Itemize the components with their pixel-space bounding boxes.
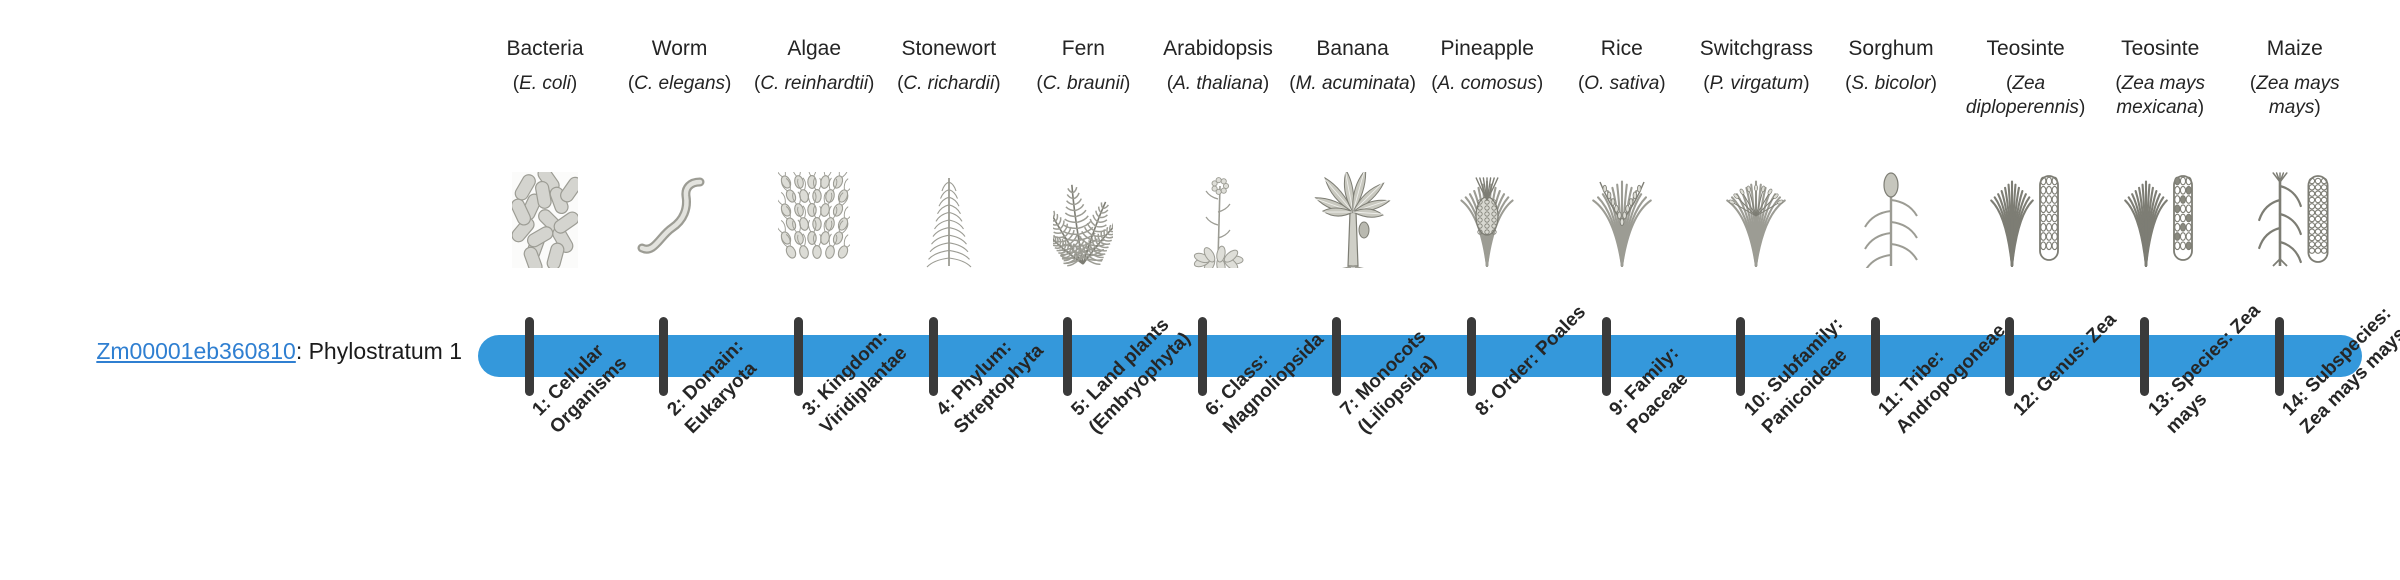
- switchgrass-illustration: [1689, 168, 1823, 268]
- species-scientific-name: (C. richardii): [876, 72, 1022, 96]
- timeline-tick-12: [2005, 317, 2014, 396]
- species-common-name: Pineapple: [1414, 36, 1560, 62]
- species-scientific-name: (M. acuminata): [1280, 72, 1426, 96]
- species-header: Arabidopsis(A. thaliana): [1145, 36, 1291, 96]
- timeline-tick-2: [659, 317, 668, 396]
- species-common-name: Stonewort: [876, 36, 1022, 62]
- species-common-name: Banana: [1280, 36, 1426, 62]
- timeline-tick-8: [1467, 317, 1476, 396]
- timeline-tick-3: [794, 317, 803, 396]
- species-common-name: Teosinte: [2087, 36, 2233, 62]
- species-column-pineapple-8: Pineapple(A. comosus): [1420, 0, 1554, 580]
- timeline-tick-9: [1602, 317, 1611, 396]
- species-common-name: Worm: [607, 36, 753, 62]
- species-scientific-name: (A. comosus): [1414, 72, 1560, 96]
- timeline-tick-13: [2140, 317, 2149, 396]
- species-header: Bacteria(E. coli): [472, 36, 618, 96]
- species-header: Rice(O. sativa): [1549, 36, 1695, 96]
- species-header: Algae(C. reinhardtii): [741, 36, 887, 96]
- timeline-tick-11: [1871, 317, 1880, 396]
- species-column-algae-3: Algae(C. reinhardtii): [747, 0, 881, 580]
- species-column-arabidopsis-6: Arabidopsis(A. thaliana): [1151, 0, 1285, 580]
- species-header: Fern(C. braunii): [1010, 36, 1156, 96]
- species-header: Teosinte(Zea mays mexicana): [2087, 36, 2233, 120]
- phylostratum-value: Phylostratum 1: [309, 338, 462, 364]
- species-column-bacteria-1: Bacteria(E. coli): [478, 0, 612, 580]
- species-header: Sorghum(S. bicolor): [1818, 36, 1964, 96]
- species-scientific-name: (C. braunii): [1010, 72, 1156, 96]
- species-scientific-name: (A. thaliana): [1145, 72, 1291, 96]
- species-column-worm-2: Worm(C. elegans): [613, 0, 747, 580]
- bacteria-illustration: [478, 168, 612, 268]
- pineapple-illustration: [1420, 168, 1554, 268]
- species-column-sorghum-11: Sorghum(S. bicolor): [1824, 0, 1958, 580]
- species-column-switchgrass-10: Switchgrass(P. virgatum): [1689, 0, 1823, 580]
- species-common-name: Algae: [741, 36, 887, 62]
- species-column-banana-7: Banana(M. acuminata): [1286, 0, 1420, 580]
- teosinte-diploperennis-illustration: [1959, 168, 2093, 268]
- species-scientific-name: (Zea mays mays): [2222, 72, 2368, 120]
- worm-illustration: [613, 168, 747, 268]
- arabidopsis-illustration: [1151, 168, 1285, 268]
- species-common-name: Fern: [1010, 36, 1156, 62]
- timeline-tick-1: [525, 317, 534, 396]
- species-header: Switchgrass(P. virgatum): [1683, 36, 1829, 96]
- timeline-tick-5: [1063, 317, 1072, 396]
- species-header: Banana(M. acuminata): [1280, 36, 1426, 96]
- rice-illustration: [1555, 168, 1689, 268]
- sorghum-illustration: [1824, 168, 1958, 268]
- species-column-stonewort-4: Stonewort(C. richardii): [882, 0, 1016, 580]
- timeline-tick-7: [1332, 317, 1341, 396]
- species-common-name: Arabidopsis: [1145, 36, 1291, 62]
- gene-label-separator: :: [296, 338, 309, 364]
- timeline-tick-10: [1736, 317, 1745, 396]
- timeline-tick-14: [2275, 317, 2284, 396]
- species-scientific-name: (O. sativa): [1549, 72, 1695, 96]
- species-column-fern-5: Fern(C. braunii): [1016, 0, 1150, 580]
- gene-accession-link[interactable]: Zm00001eb360810: [96, 338, 296, 364]
- species-scientific-name: (Zea diploperennis): [1953, 72, 2099, 120]
- species-common-name: Switchgrass: [1683, 36, 1829, 62]
- species-common-name: Teosinte: [1953, 36, 2099, 62]
- banana-illustration: [1286, 168, 1420, 268]
- species-common-name: Maize: [2222, 36, 2368, 62]
- species-common-name: Rice: [1549, 36, 1695, 62]
- stonewort-illustration: [882, 168, 1016, 268]
- timeline-tick-4: [929, 317, 938, 396]
- gene-phylostratum-label: Zm00001eb360810: Phylostratum 1: [0, 337, 462, 365]
- species-scientific-name: (P. virgatum): [1683, 72, 1829, 96]
- species-column-teosinte-12: Teosinte(Zea diploperennis): [1959, 0, 2093, 580]
- species-common-name: Sorghum: [1818, 36, 1964, 62]
- species-header: Teosinte(Zea diploperennis): [1953, 36, 2099, 120]
- phylostratum-figure: Zm00001eb360810: Phylostratum 1 Bacteria…: [0, 0, 2400, 580]
- species-column-rice-9: Rice(O. sativa): [1555, 0, 1689, 580]
- species-header: Maize(Zea mays mays): [2222, 36, 2368, 120]
- species-column-maize-14: Maize(Zea mays mays): [2228, 0, 2362, 580]
- species-header: Pineapple(A. comosus): [1414, 36, 1560, 96]
- fern-illustration: [1016, 168, 1150, 268]
- species-columns: Bacteria(E. coli)Worm(C. elegans)Algae(C…: [478, 0, 2362, 580]
- teosinte-mexicana-illustration: [2093, 168, 2227, 268]
- species-column-teosinte-13: Teosinte(Zea mays mexicana): [2093, 0, 2227, 580]
- species-scientific-name: (C. elegans): [607, 72, 753, 96]
- species-header: Worm(C. elegans): [607, 36, 753, 96]
- algae-illustration: [747, 168, 881, 268]
- species-common-name: Bacteria: [472, 36, 618, 62]
- species-scientific-name: (E. coli): [472, 72, 618, 96]
- maize-illustration: [2228, 168, 2362, 268]
- species-scientific-name: (S. bicolor): [1818, 72, 1964, 96]
- timeline-tick-6: [1198, 317, 1207, 396]
- species-scientific-name: (C. reinhardtii): [741, 72, 887, 96]
- species-header: Stonewort(C. richardii): [876, 36, 1022, 96]
- species-scientific-name: (Zea mays mexicana): [2087, 72, 2233, 120]
